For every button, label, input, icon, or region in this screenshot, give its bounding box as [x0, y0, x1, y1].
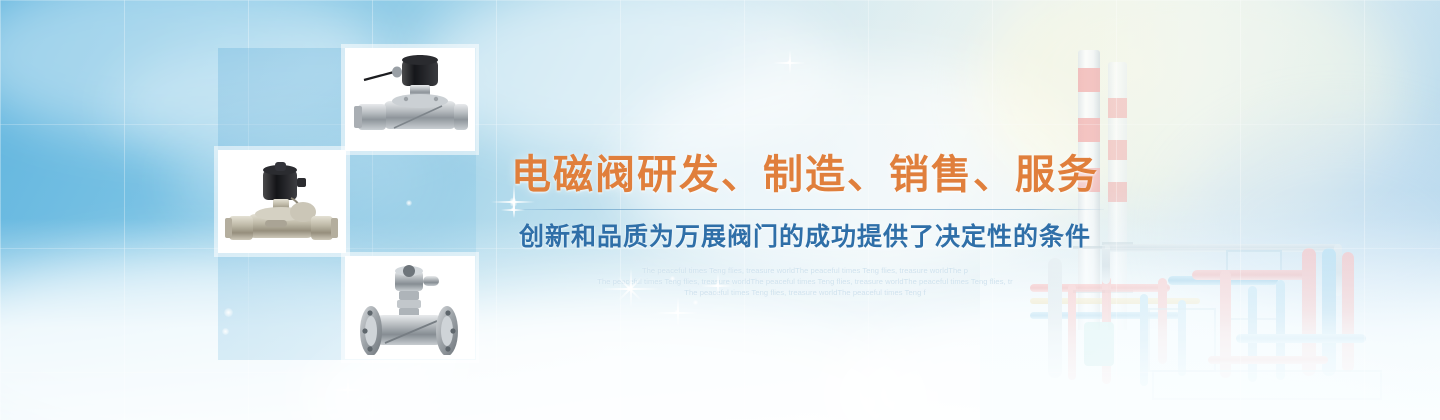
pipe-red-elbow	[1158, 278, 1167, 364]
pipe-red-vertical	[1068, 284, 1076, 380]
product-image-solenoid-valve-flanged[interactable]	[345, 256, 475, 359]
pipe-blue-header	[1168, 276, 1278, 285]
equipment-frame	[1148, 308, 1216, 372]
chimney-stack-short	[1108, 62, 1127, 330]
equipment-frame	[1226, 250, 1282, 320]
pipe-yellow-horizontal	[1030, 298, 1200, 304]
fine-print-line-2: The peaceful times Teng flies, treasure …	[505, 276, 1105, 287]
pipe-red-column	[1342, 252, 1354, 372]
stack-band	[1078, 68, 1100, 92]
sparkle	[772, 45, 806, 79]
banner-subheadline: 创新和品质为万展阀门的成功提供了决定性的条件	[505, 217, 1105, 253]
solenoid-valve-flanged-icon	[349, 261, 471, 355]
stack-ring	[1102, 242, 1133, 245]
pipe-blue-manifold	[1236, 334, 1366, 343]
pipe-blue-riser	[1276, 280, 1285, 380]
banner-headline: 电磁阀研发、制造、销售、服务	[505, 150, 1105, 200]
pipe-red-manifold	[1208, 356, 1328, 364]
pipe-red-riser	[1220, 270, 1231, 378]
fine-print-line-3: The peaceful times Teng flies, treasure …	[505, 287, 1105, 298]
pipe-overhead-leg	[1334, 244, 1342, 296]
solenoid-valve-threaded-black-coil-icon	[350, 54, 470, 146]
pipe-blue-riser	[1178, 300, 1186, 376]
pipe-blue-column	[1322, 248, 1336, 376]
banner-copy: 电磁阀研发、制造、销售、服务 创新和品质为万展阀门的成功提供了决定性的条件 Th…	[505, 150, 1105, 298]
stack-band	[1108, 140, 1127, 160]
bokeh-dot	[693, 300, 698, 305]
banner-fine-print: The peaceful times Teng flies, treasure …	[505, 265, 1105, 298]
pipe-blue-vertical	[1140, 294, 1148, 386]
stack-ring	[1102, 290, 1133, 293]
bokeh-dot	[406, 200, 412, 206]
solenoid-valve-brass-inline-icon	[223, 156, 341, 248]
cloud-wisp	[0, 0, 380, 140]
stack-band	[1108, 98, 1127, 118]
pipe-red-header	[1192, 270, 1312, 280]
pipe-blue-riser	[1248, 286, 1257, 382]
stack-band	[1108, 182, 1127, 202]
hero-banner: 电磁阀研发、制造、销售、服务 创新和品质为万展阀门的成功提供了决定性的条件 Th…	[0, 0, 1440, 420]
bokeh-dot	[222, 328, 229, 335]
pipe-red-column	[1302, 248, 1316, 376]
bokeh-dot	[224, 308, 233, 317]
cloud-wisp	[1180, 120, 1440, 340]
stack-band	[1078, 118, 1100, 142]
product-image-solenoid-valve-threaded-black-coil[interactable]	[345, 48, 475, 151]
pipe-blue-horizontal	[1030, 312, 1180, 319]
product-image-solenoid-valve-brass-inline[interactable]	[218, 150, 346, 253]
headline-divider	[506, 209, 1104, 210]
fine-print-line-1: The peaceful times Teng flies, treasure …	[505, 265, 1105, 276]
equipment-skid	[1152, 370, 1382, 400]
pipe-teal-vessel	[1084, 322, 1114, 366]
cloud-wisp	[420, 0, 840, 160]
sparkle	[330, 372, 364, 406]
cloud-wisp	[820, 300, 1380, 420]
pipe-overhead-bridge	[1102, 244, 1342, 252]
